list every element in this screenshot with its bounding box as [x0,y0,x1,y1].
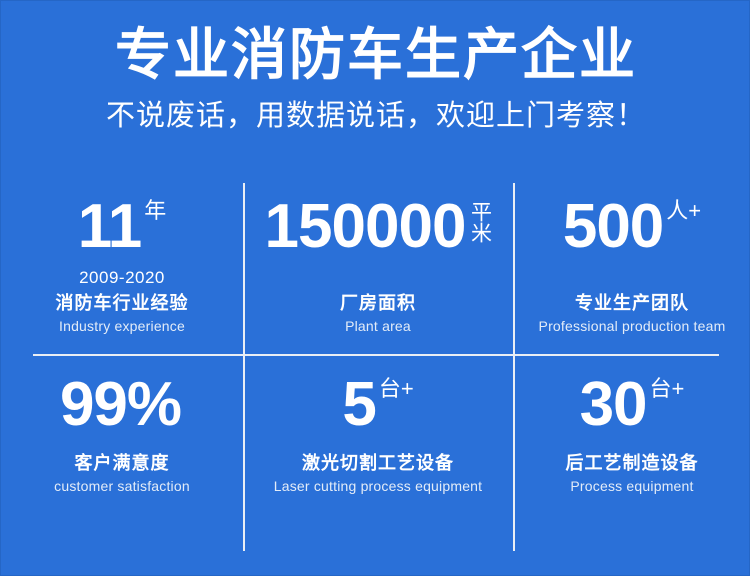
stat-label-cn: 客户满意度 [1,451,243,475]
stat-cell-laser-cutting-equipment: 5 台+ 激光切割工艺设备 Laser cutting process equi… [243,357,513,529]
stat-year-range: 2009-2020 [1,267,243,289]
stat-value-line: 5 台+ [243,371,513,443]
banner-header: 专业消防车生产企业 不说废话，用数据说话，欢迎上门考察！ [1,1,750,134]
stat-unit: 台+ [376,371,414,401]
stat-value-line: 11 年 [1,193,243,265]
stat-number: 5 [342,371,375,439]
stat-label-en: Professional production team [513,316,750,336]
stat-number: 30 [580,371,647,439]
stat-cell-plant-area: 150000 平米 厂房面积 Plant area [243,183,513,355]
stat-label-cn: 消防车行业经验 [1,291,243,315]
stat-unit: 平米 [465,193,491,243]
stat-label-cn: 激光切割工艺设备 [243,451,513,475]
stat-unit: 台+ [647,371,685,401]
stats-grid: 11 年 2009-2020 消防车行业经验 Industry experien… [1,183,750,555]
stat-value-line: 150000 平米 [243,193,513,265]
stat-label-en: Laser cutting process equipment [243,476,513,496]
stat-number: 500 [563,193,663,261]
stat-unit [181,371,184,377]
stat-label-en: Process equipment [513,476,750,496]
stat-label-en: customer satisfaction [1,476,243,496]
stat-cell-industry-experience: 11 年 2009-2020 消防车行业经验 Industry experien… [1,183,243,355]
stat-number: 150000 [265,193,466,261]
stat-cell-process-equipment: 30 台+ 后工艺制造设备 Process equipment [513,357,750,529]
stat-year-range [243,267,513,289]
stat-label-en: Industry experience [1,316,243,336]
page-title: 专业消防车生产企业 [1,1,750,85]
stat-number: 99% [60,371,181,439]
promo-banner: 专业消防车生产企业 不说废话，用数据说话，欢迎上门考察！ 11 年 2009-2… [0,0,750,576]
stat-unit: 年 [141,193,166,223]
stat-label-cn: 后工艺制造设备 [513,451,750,475]
page-subtitle: 不说废话，用数据说话，欢迎上门考察！ [1,85,750,134]
stat-value-line: 30 台+ [513,371,750,443]
stats-row-bottom: 99% 客户满意度 customer satisfaction 5 台+ 激光切… [1,357,750,529]
stat-number: 11 [78,193,142,261]
stat-year-range [513,267,750,289]
stats-row-top: 11 年 2009-2020 消防车行业经验 Industry experien… [1,183,750,355]
stat-value-line: 99% [1,371,243,443]
stat-unit: 人+ [663,193,701,223]
stat-cell-customer-satisfaction: 99% 客户满意度 customer satisfaction [1,357,243,529]
stat-label-cn: 专业生产团队 [513,291,750,315]
stat-value-line: 500 人+ [513,193,750,265]
stat-label-en: Plant area [243,316,513,336]
stat-cell-production-team: 500 人+ 专业生产团队 Professional production te… [513,183,750,355]
stat-label-cn: 厂房面积 [243,291,513,315]
